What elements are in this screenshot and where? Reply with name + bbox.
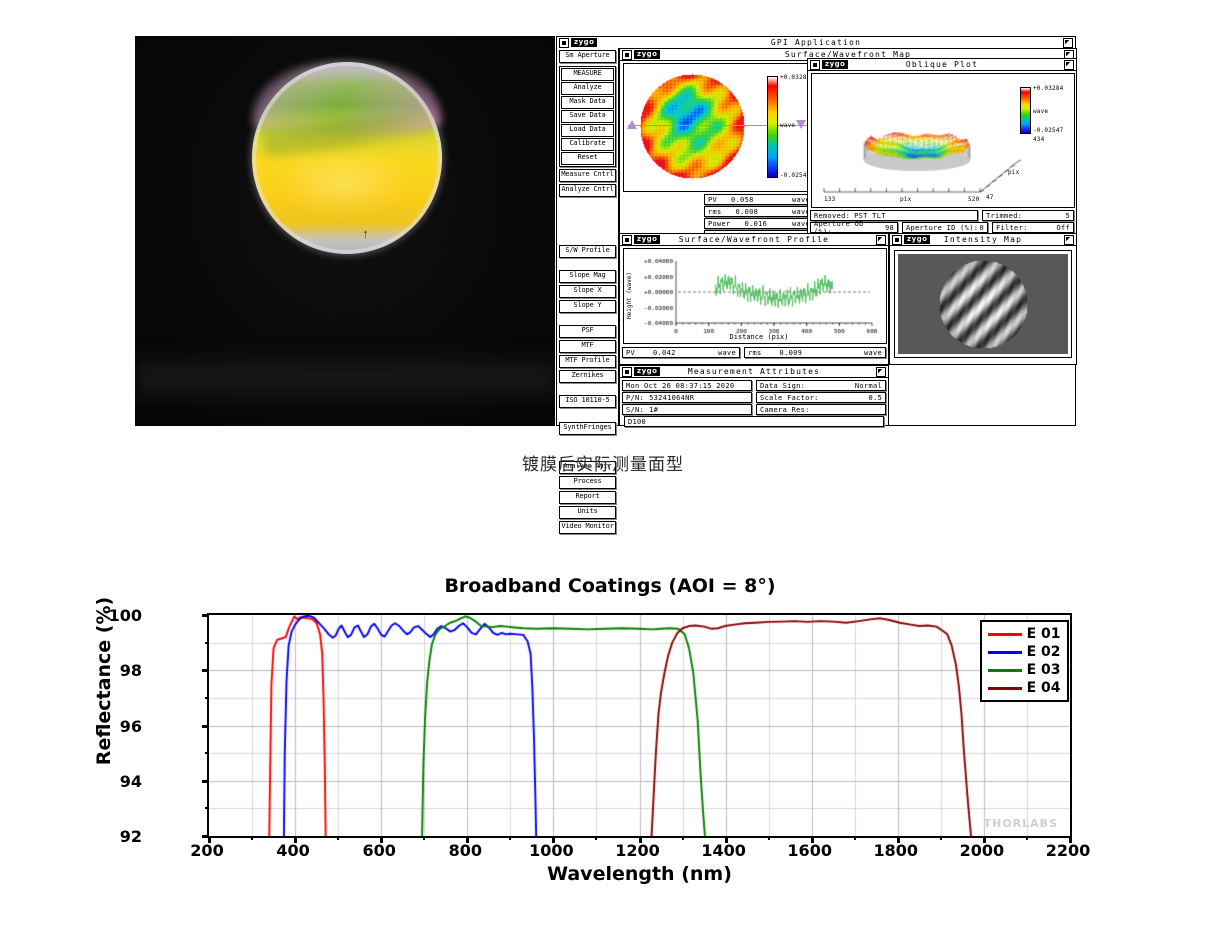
optic-bevel-rim — [252, 62, 442, 254]
wavefront-stat-row: PV0.058wave — [704, 194, 814, 205]
app-title: GPI Application — [557, 37, 1075, 48]
meas-attr-row-3: S/N: 1# Camera Res: — [622, 403, 886, 415]
sidebar-button-sm-aperture[interactable]: Sm Aperture — [559, 50, 616, 63]
chart-xtick: 1800 — [866, 841, 926, 860]
status-trimmed: Trimmed: 5 — [982, 210, 1074, 221]
sidebar-button-mtf-profile[interactable]: MTF Profile — [559, 355, 616, 368]
chart-ytick-minor — [205, 752, 209, 754]
resize-icon[interactable] — [876, 235, 886, 245]
chart-xtick-minor — [1026, 836, 1028, 840]
extra-value: D100 — [625, 418, 646, 426]
profile-xlabel: Distance (pix) — [684, 333, 834, 341]
camera-res-label: Camera Res: — [757, 406, 810, 414]
timestamp-value: Mon Oct 26 08:37:15 2020 — [623, 382, 734, 390]
broadband-coatings-chart: Broadband Coatings (AOI = 8°) Reflectanc… — [135, 575, 1085, 895]
meas-attr-row-1: Mon Oct 26 08:37:15 2020 Data Sign: Norm… — [622, 379, 886, 391]
status-aperture-od-value: 98 — [885, 224, 897, 232]
measurement-attributes-panel[interactable]: zygo Measurement Attributes Mon Oct 26 0… — [619, 365, 889, 426]
status-aperture-id-value: 0 — [979, 224, 987, 232]
sidebar-button-video-monitor[interactable]: Video Monitor — [559, 521, 616, 534]
sidebar-button-iso-10110-5[interactable]: ISO 10110-5 — [559, 395, 616, 408]
resize-icon[interactable] — [876, 367, 886, 377]
chart-xlabel: Wavelength (nm) — [207, 863, 1072, 885]
sidebar-button-report[interactable]: Report — [559, 491, 616, 504]
wavefront-map-canvas[interactable]: +0.03284 wave -0.02547 — [623, 63, 815, 192]
part-number-label: P/N: — [623, 394, 644, 402]
chart-xtick-minor — [682, 836, 684, 840]
sidebar-button-units[interactable]: Units — [559, 506, 616, 519]
status-aperture-id: Aperture ID (%): 0 — [902, 222, 988, 233]
status-trimmed-label: Trimmed: — [983, 212, 1022, 220]
chart-plot-area: E 01E 02E 03E 04 THORLABS — [207, 613, 1072, 838]
sidebar[interactable]: Sm ApertureMEASUREAnalyzeMask DataSave D… — [557, 48, 619, 425]
data-sign-label: Data Sign: — [757, 382, 805, 390]
meas-attr-row-2: P/N: 53241064NR Scale Factor: 0.5 — [622, 391, 886, 403]
oblique-x-left: 133 — [824, 196, 835, 203]
data-sign-value: Normal — [855, 382, 885, 390]
chart-xtick: 1400 — [694, 841, 754, 860]
wavefront-stat-row: Power0.016wave — [704, 218, 814, 229]
surface-wavefront-profile-panel[interactable]: zygo Surface/Wavefront Profile Height (w… — [619, 233, 889, 365]
meas-attr-title: Measurement Attributes — [620, 366, 888, 377]
status-removed-value: PST TLT — [850, 212, 886, 220]
status-aperture-od: Aperture OD (%): 98 — [810, 222, 898, 233]
wavefront-stat-value: 0.008 — [722, 208, 759, 216]
chart-ytick-minor — [205, 780, 209, 782]
status-aperture-id-label: Aperture ID (%): — [903, 224, 978, 232]
oblique-plot-canvas[interactable]: +0.03284 wave -0.02547 434 pix 47 133 pi… — [811, 73, 1075, 208]
profile-canvas[interactable]: Height (wave) Distance (pix) — [623, 248, 887, 344]
figure-caption: 镀膜后实际测量面型 — [0, 450, 1206, 475]
optic-engraved-arrow-icon: ↑ — [362, 227, 375, 240]
map-scale-max: +0.03284 — [780, 74, 811, 81]
chart-xtick-minor — [897, 836, 899, 840]
sidebar-button-slope-x[interactable]: Slope X — [559, 285, 616, 298]
scale-factor-field[interactable]: Scale Factor: 0.5 — [756, 392, 886, 403]
camera-res-field[interactable]: Camera Res: — [756, 404, 886, 415]
legend-item: E 01 — [982, 625, 1061, 643]
chart-xtick: 2000 — [952, 841, 1012, 860]
sidebar-button-s-w-profile[interactable]: S/W Profile — [559, 245, 616, 258]
sidebar-button-psf[interactable]: PSF — [559, 325, 616, 338]
chart-ytick: 98 — [102, 661, 142, 680]
wavefront-stat-label: rms — [705, 208, 722, 216]
profile-pv: PV 0.042 wave — [622, 347, 740, 358]
coated-optic-disc: ↑ — [252, 62, 442, 254]
sidebar-button-slope-mag[interactable]: Slope Mag — [559, 270, 616, 283]
intensity-map-title: Intensity Map — [890, 234, 1076, 245]
status-trimmed-value: 5 — [1065, 212, 1073, 220]
chart-xtick-minor — [294, 836, 296, 840]
oblique-y-value: 47 — [986, 194, 994, 201]
chart-xtick: 200 — [177, 841, 237, 860]
oblique-plot-panel[interactable]: zygo Oblique Plot +0.03284 wave -0.02547… — [807, 58, 1077, 253]
resize-icon[interactable] — [1064, 235, 1074, 245]
sidebar-button-mtf[interactable]: MTF — [559, 340, 616, 353]
sidebar-gap — [557, 313, 618, 323]
chart-xtick-minor — [639, 836, 641, 840]
map-scale-min: -0.02547 — [780, 172, 811, 179]
wavefront-stat-label: PV — [705, 196, 717, 204]
status-filter-value: Off — [1056, 224, 1073, 232]
sidebar-button-load-data[interactable]: Load Data — [561, 124, 614, 137]
sidebar-button-analyze-cntrl[interactable]: Analyze Cntrl — [559, 184, 616, 197]
oblique-status-bar: Removed: PST TLT Trimmed: 5 Aperture OD … — [810, 209, 1074, 233]
profile-end-marker-icon[interactable] — [796, 120, 806, 129]
sidebar-button-measure[interactable]: MEASURE — [561, 68, 614, 81]
profile-rms-value: 0.009 — [762, 349, 803, 357]
chart-xtick-minor — [983, 836, 985, 840]
status-filter-label: Filter: — [993, 224, 1028, 232]
chart-xtick: 600 — [349, 841, 409, 860]
profile-rms-unit: wave — [864, 349, 885, 357]
chart-ytick: 94 — [102, 772, 142, 791]
chart-xtick: 1600 — [780, 841, 840, 860]
chart-ytick-minor — [205, 697, 209, 699]
wavefront-stat-value: 0.058 — [717, 196, 754, 204]
legend-item: E 04 — [982, 679, 1061, 697]
sidebar-button-slope-y[interactable]: Slope Y — [559, 300, 616, 313]
legend-swatch — [988, 651, 1022, 654]
oblique-x-unit: pix — [900, 196, 911, 203]
thorlabs-watermark: THORLABS — [984, 817, 1058, 830]
sidebar-gap — [557, 258, 618, 268]
legend-swatch — [988, 687, 1022, 690]
serial-number-value: 1# — [644, 406, 658, 414]
sidebar-button-save-data[interactable]: Save Data — [561, 110, 614, 123]
chart-xtick-minor — [552, 836, 554, 840]
profile-start-marker-icon[interactable] — [627, 120, 637, 129]
chart-xtick-minor — [595, 836, 597, 840]
chart-title: Broadband Coatings (AOI = 8°) — [135, 575, 1085, 597]
status-filter: Filter: Off — [992, 222, 1074, 233]
legend-swatch — [988, 669, 1022, 672]
map-color-bar — [767, 76, 778, 178]
oblique-depth-label: 434 — [1033, 136, 1044, 143]
chart-xtick: 400 — [263, 841, 323, 860]
chart-xtick-minor — [940, 836, 942, 840]
scale-factor-label: Scale Factor: — [757, 394, 819, 402]
chart-ytick-minor — [205, 669, 209, 671]
status-removed-label: Removed: — [811, 212, 850, 220]
chart-ylabel: Reflectance (%) — [93, 561, 115, 801]
chart-ytick-minor — [205, 807, 209, 809]
legend-label: E 02 — [1027, 644, 1061, 660]
legend-swatch — [988, 633, 1022, 636]
sidebar-button-mask-data[interactable]: Mask Data — [561, 96, 614, 109]
chart-xtick: 1000 — [521, 841, 581, 860]
intensity-map-title-bar: zygo Intensity Map — [890, 234, 1076, 246]
chart-xtick-minor — [768, 836, 770, 840]
wavefront-stat-value: 0.016 — [731, 220, 768, 228]
profile-pv-unit: wave — [718, 349, 739, 357]
sidebar-measure-group[interactable]: MEASUREAnalyzeMask DataSave DataLoad Dat… — [559, 66, 616, 167]
legend-label: E 03 — [1027, 662, 1061, 678]
chart-xtick: 2200 — [1038, 841, 1098, 860]
chart-ytick: 96 — [102, 717, 142, 736]
legend-label: E 01 — [1027, 626, 1061, 642]
profile-pv-value: 0.042 — [635, 349, 676, 357]
serial-number-label: S/N: — [623, 406, 644, 414]
sidebar-button-analyze[interactable]: Analyze — [561, 82, 614, 95]
scale-factor-value: 0.5 — [868, 394, 885, 402]
sidebar-gap — [557, 408, 618, 420]
serial-number-field[interactable]: S/N: 1# — [622, 404, 752, 415]
resize-icon[interactable] — [1064, 60, 1074, 70]
sidebar-button-synthfringes[interactable]: SynthFringes — [559, 422, 616, 435]
photo-shadow — [135, 348, 555, 408]
part-number-value: 53241064NR — [644, 394, 694, 402]
chart-xtick-minor — [509, 836, 511, 840]
oblique-plot-title: Oblique Plot — [808, 59, 1076, 70]
chart-xtick-minor — [423, 836, 425, 840]
chart-ytick-minor — [205, 725, 209, 727]
legend-item: E 02 — [982, 643, 1061, 661]
coated-optic-photo: ↑ — [135, 36, 555, 426]
data-sign-field[interactable]: Data Sign: Normal — [756, 380, 886, 391]
oblique-color-bar — [1020, 87, 1031, 134]
profile-rms: rms 0.009 wave — [744, 347, 886, 358]
chart-xtick-minor — [854, 836, 856, 840]
profile-stats-bar: PV 0.042 wave rms 0.009 wave — [622, 346, 886, 358]
chart-xtick-minor — [466, 836, 468, 840]
chart-ytick: 100 — [102, 606, 142, 625]
oblique-x-right: 520 — [968, 196, 979, 203]
chart-xtick-minor — [337, 836, 339, 840]
profile-title: Surface/Wavefront Profile — [620, 234, 888, 245]
chart-xtick-minor — [251, 836, 253, 840]
profile-title-bar: zygo Surface/Wavefront Profile — [620, 234, 888, 246]
part-number-field[interactable]: P/N: 53241064NR — [622, 392, 752, 403]
oblique-scale-unit: wave — [1033, 108, 1048, 115]
sidebar-button-process[interactable]: Process — [559, 476, 616, 489]
oblique-y-unit: pix — [1008, 169, 1019, 176]
chart-xtick-minor — [725, 836, 727, 840]
timestamp-field[interactable]: Mon Oct 26 08:37:15 2020 — [622, 380, 752, 391]
meas-attr-title-bar: zygo Measurement Attributes — [620, 366, 888, 378]
chart-xtick: 800 — [435, 841, 495, 860]
sidebar-gap — [557, 383, 618, 393]
extra-field[interactable]: D100 — [624, 416, 884, 427]
chart-ytick: 92 — [102, 827, 142, 846]
map-scale-unit: wave — [780, 122, 795, 129]
wavefront-stat-row: rms0.008wave — [704, 206, 814, 217]
sidebar-gap — [557, 197, 618, 243]
intensity-map-panel[interactable]: zygo Intensity Map — [889, 233, 1077, 365]
chart-xtick-minor — [811, 836, 813, 840]
chart-xtick-minor — [380, 836, 382, 840]
zygo-gpi-application-window[interactable]: zygo GPI Application Sm ApertureMEASUREA… — [556, 36, 1076, 426]
chart-ytick-mark — [202, 614, 209, 617]
oblique-plot-title-bar: zygo Oblique Plot — [808, 59, 1076, 71]
oblique-scale-max: +0.03284 — [1033, 85, 1064, 92]
sidebar-button-calibrate[interactable]: Calibrate — [561, 138, 614, 151]
resize-icon[interactable] — [1063, 38, 1073, 48]
sidebar-button-reset[interactable]: Reset — [561, 152, 614, 165]
oblique-scale-min: -0.02547 — [1033, 127, 1064, 134]
sidebar-button-zernikes[interactable]: Zernikes — [559, 370, 616, 383]
chart-legend: E 01E 02E 03E 04 — [980, 620, 1069, 702]
sidebar-button-measure-cntrl[interactable]: Measure Cntrl — [559, 169, 616, 182]
profile-rms-label: rms — [745, 349, 762, 357]
intensity-map-canvas[interactable] — [894, 250, 1072, 358]
legend-label: E 04 — [1027, 680, 1061, 696]
chart-ytick-minor — [205, 642, 209, 644]
chart-xtick: 1200 — [608, 841, 668, 860]
wavefront-stat-label: Power — [705, 220, 731, 228]
legend-item: E 03 — [982, 661, 1061, 679]
profile-ylabel: Height (wave) — [626, 261, 633, 331]
profile-pv-label: PV — [623, 349, 635, 357]
